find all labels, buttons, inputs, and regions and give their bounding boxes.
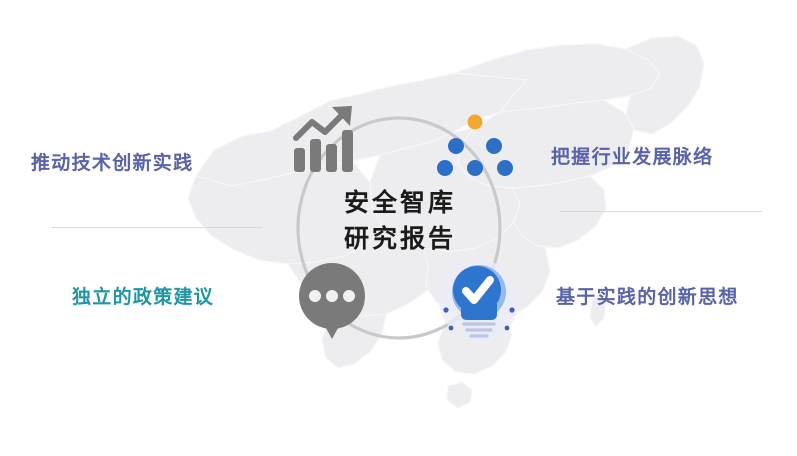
label-bottom-left: 独立的政策建议 [72,282,214,309]
bar-chart-growth-icon [292,104,362,176]
divider-right [560,211,762,212]
label-top-right: 把握行业发展脉络 [551,142,713,169]
chat-bubble-icon [296,262,368,340]
lightbulb-check-icon [437,258,521,344]
network-nodes-icon [437,110,513,182]
divider-left [52,227,262,228]
center-title-line2: 研究报告 [310,222,490,258]
center-title-line1: 安全智库 [310,186,490,222]
center-title: 安全智库 研究报告 [310,186,490,257]
label-top-left: 推动技术创新实践 [31,148,193,175]
infographic-canvas: 安全智库 研究报告 推动技术创新实践 把握行业发展脉络 独立的政策建议 基于实践… [0,0,797,456]
label-bottom-right: 基于实践的创新思想 [556,282,739,309]
